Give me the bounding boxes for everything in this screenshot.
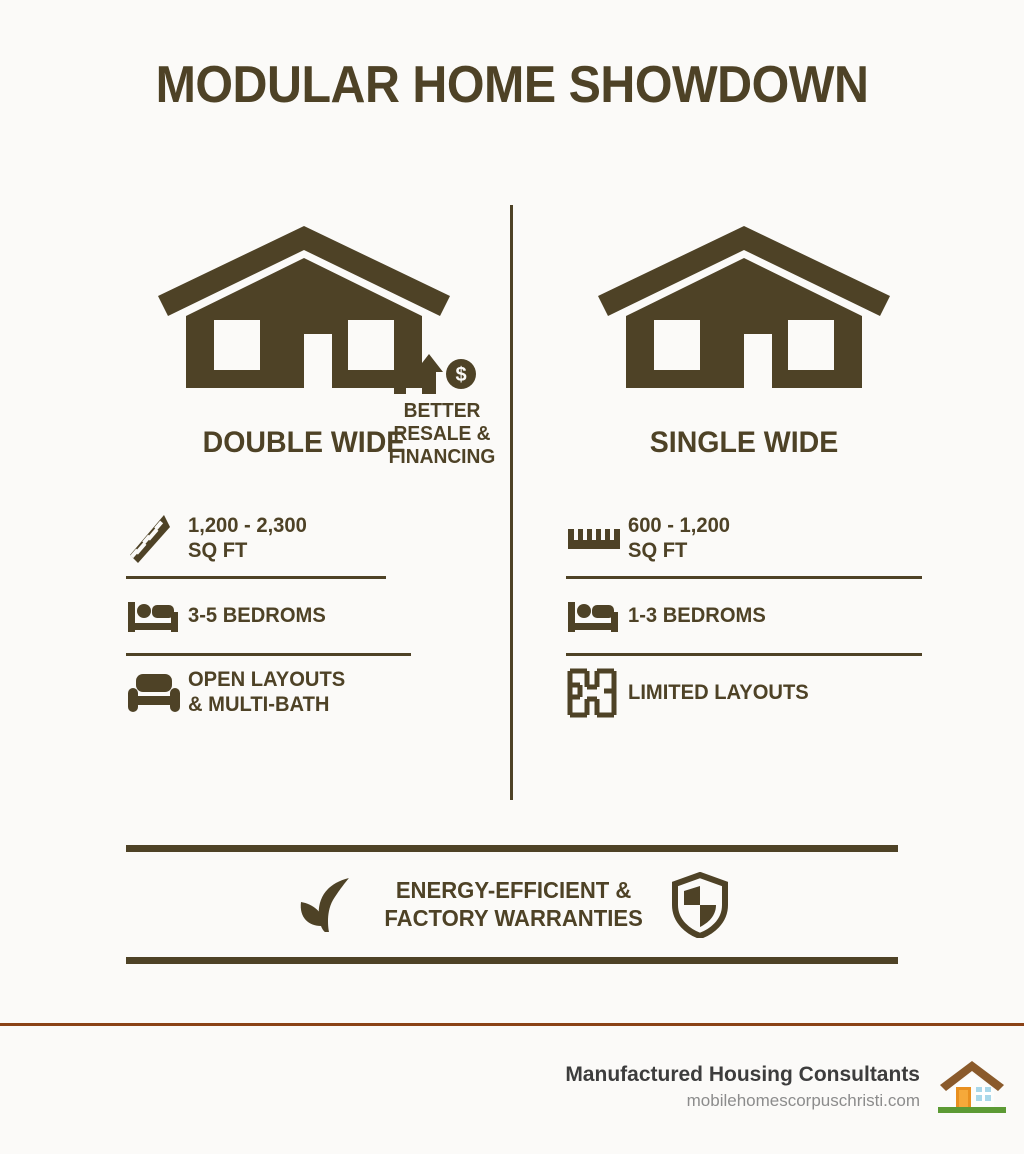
leaf-icon xyxy=(295,874,357,936)
arrows-up-dollar-icon: $ xyxy=(382,352,502,396)
feature-row: LIMITED LAYOUTS xyxy=(566,656,922,730)
feature-text: 1,200 - 2,300 SQ FT xyxy=(188,514,307,564)
column-divider xyxy=(510,205,513,800)
infographic-canvas: MODULAR HOME SHOWDOWN DOUBLE WIDE xyxy=(0,0,1024,1154)
bed-icon xyxy=(566,596,628,636)
benefits-banner: ENERGY-EFFICIENT & FACTORY WARRANTIES xyxy=(126,845,898,964)
feature-text: 1-3 BEDROMS xyxy=(628,604,766,629)
feature-row: 1,200 - 2,300 SQ FT xyxy=(126,502,482,576)
banner-bottom-rule xyxy=(126,957,898,964)
shield-icon xyxy=(671,872,729,938)
bed-icon xyxy=(126,596,188,636)
banner-body: ENERGY-EFFICIENT & FACTORY WARRANTIES xyxy=(126,852,898,957)
feature-row: 3-5 BEDROMS xyxy=(126,579,482,653)
feature-text: LIMITED LAYOUTS xyxy=(628,681,809,706)
floorplan-icon xyxy=(566,667,628,719)
page-title: MODULAR HOME SHOWDOWN xyxy=(36,55,988,115)
svg-text:$: $ xyxy=(455,364,466,386)
column-heading-single-wide: SINGLE WIDE xyxy=(575,426,913,460)
ruler-diagonal-icon xyxy=(126,513,188,565)
footer-text-block: Manufactured Housing Consultants mobileh… xyxy=(565,1062,920,1111)
better-resale-badge: $ BETTER RESALE & FINANCING xyxy=(382,352,502,470)
feature-text: OPEN LAYOUTS & MULTI-BATH xyxy=(188,668,345,718)
feature-row: 600 - 1,200 SQ FT xyxy=(566,502,922,576)
feature-list-double-wide: 1,200 - 2,300 SQ FT 3-5 BEDR xyxy=(126,502,482,730)
feature-list-single-wide: 600 - 1,200 SQ FT 1-3 BEDROM xyxy=(566,502,922,730)
company-name: Manufactured Housing Consultants xyxy=(565,1062,920,1088)
banner-top-rule xyxy=(126,845,898,852)
sofa-icon xyxy=(126,672,188,714)
column-single-wide: SINGLE WIDE xyxy=(566,200,922,730)
house-icon xyxy=(566,200,922,400)
house-logo-icon xyxy=(934,1055,1010,1119)
banner-text: ENERGY-EFFICIENT & FACTORY WARRANTIES xyxy=(385,877,643,932)
badge-text: BETTER RESALE & FINANCING xyxy=(384,400,499,470)
feature-text: 600 - 1,200 SQ FT xyxy=(628,514,730,564)
ruler-horizontal-icon xyxy=(566,527,628,551)
footer: Manufactured Housing Consultants mobileh… xyxy=(0,1055,1024,1119)
feature-text: 3-5 BEDROMS xyxy=(188,604,326,629)
feature-row: 1-3 BEDROMS xyxy=(566,579,922,653)
footer-separator xyxy=(0,1023,1024,1026)
feature-row: OPEN LAYOUTS & MULTI-BATH xyxy=(126,656,482,730)
website-url[interactable]: mobilehomescorpuschristi.com xyxy=(565,1090,920,1112)
